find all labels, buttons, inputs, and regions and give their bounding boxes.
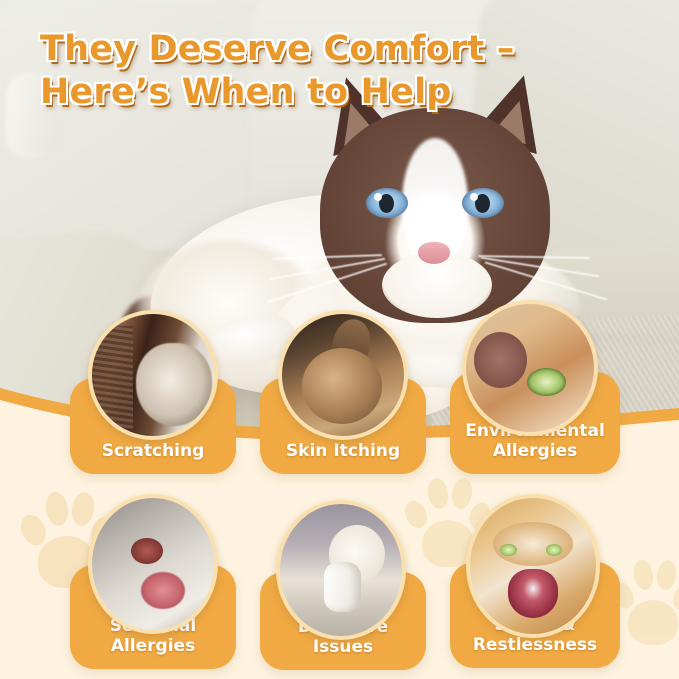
- cat-eye-left-icon: [500, 544, 516, 556]
- card-label: Scratching: [70, 441, 236, 462]
- thumb-stress-restlessness[interactable]: [466, 494, 600, 638]
- cat-eye-glint-right: [470, 193, 478, 201]
- thumb-scratching[interactable]: [88, 310, 218, 440]
- paw-print-icon: [612, 556, 679, 650]
- card-label: Skin Itching: [260, 441, 426, 462]
- thumb-digestive-issues[interactable]: [276, 500, 406, 640]
- thumb-seasonal-allergies[interactable]: [88, 494, 218, 634]
- page-title: They Deserve Comfort – Here’s When to He…: [40, 28, 600, 113]
- cat-eye-right-icon: [546, 544, 562, 556]
- thumb-skin-itching[interactable]: [278, 310, 408, 440]
- thumb-environmental-allergies[interactable]: [462, 300, 598, 436]
- cat-nose: [418, 242, 450, 264]
- infographic-poster: Scratching Skin Itching Environmental Al…: [0, 0, 679, 679]
- cat-eye-glint-left: [374, 193, 382, 201]
